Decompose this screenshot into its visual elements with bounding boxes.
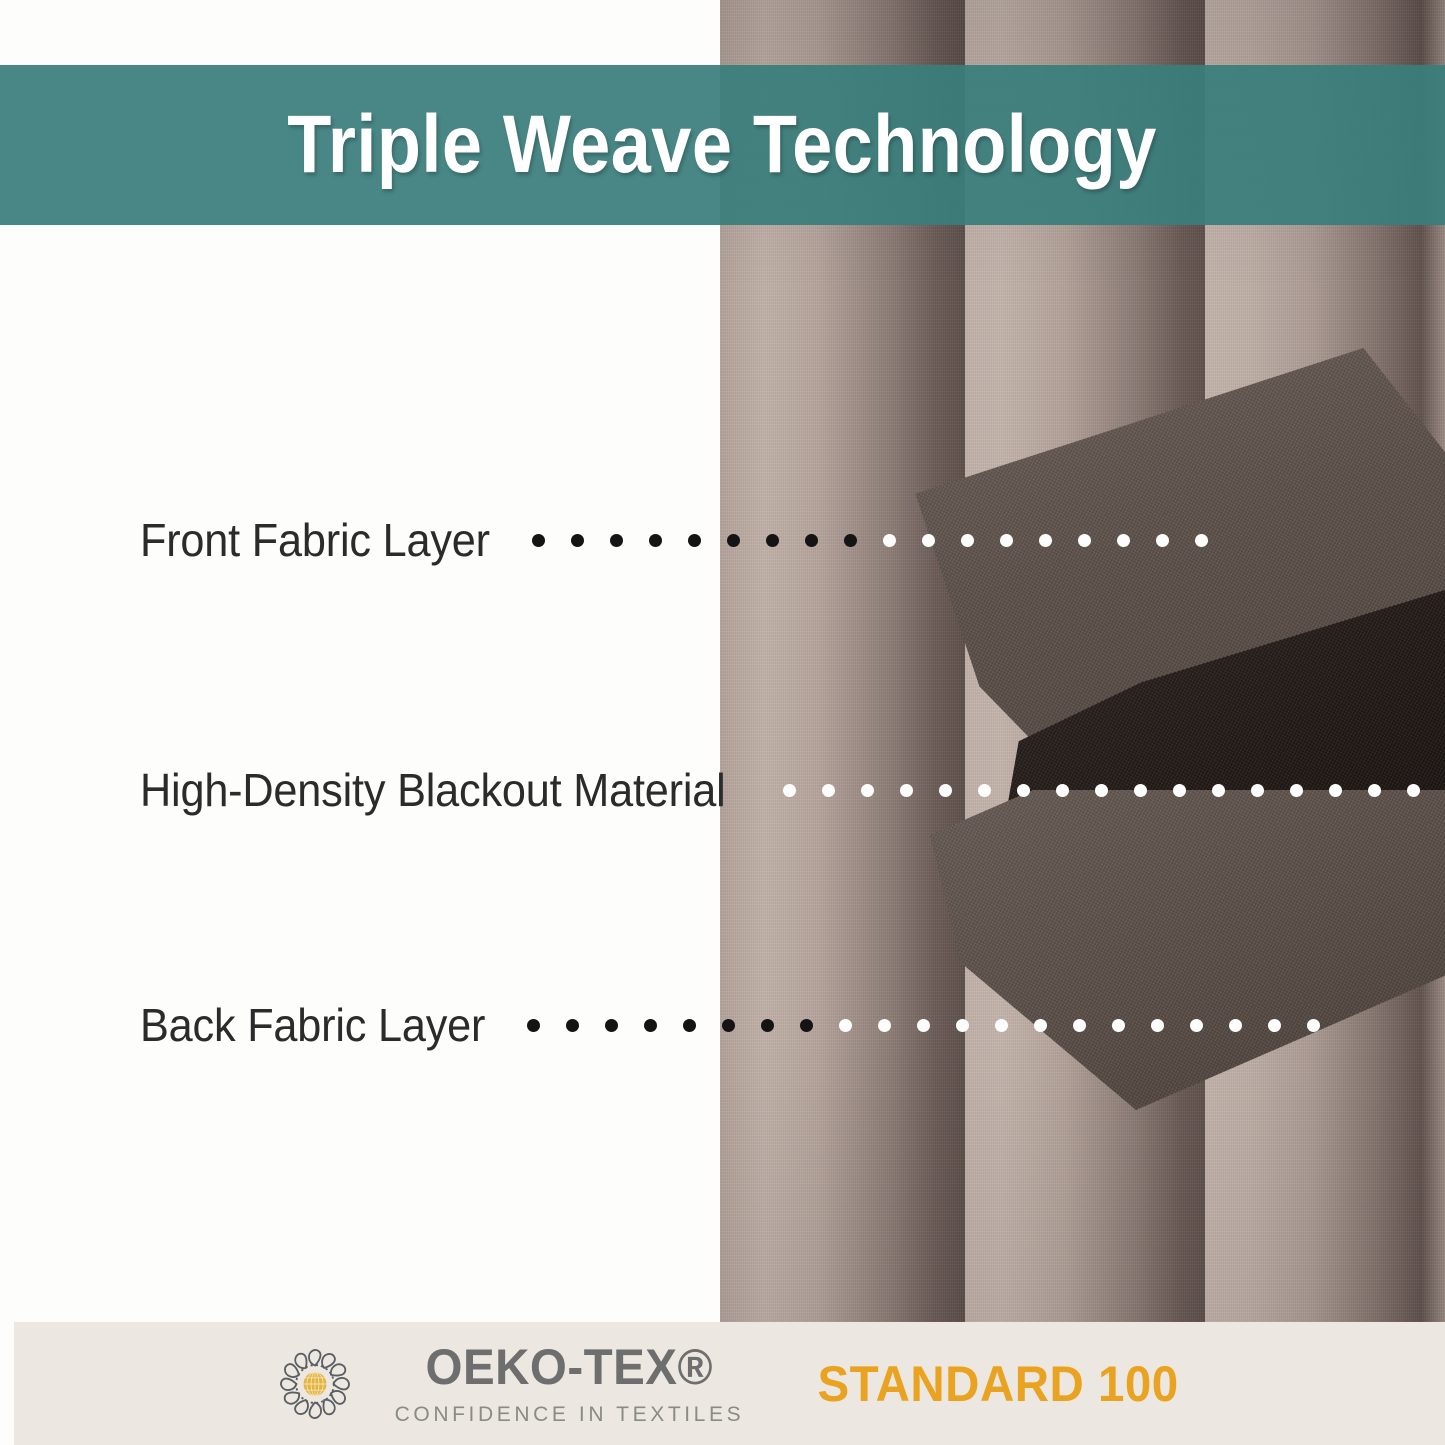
leader-dot [900,784,913,797]
oeko-tex-brand: OEKO-TEX® [426,1342,713,1392]
leader-dot [805,534,818,547]
leader-dot [649,534,662,547]
leader-dot [1073,1019,1086,1032]
product-infographic: Triple Weave Technology Front Fabric Lay… [0,0,1445,1445]
leader-dot [1195,534,1208,547]
oeko-tex-lockup: OEKO-TEX® CONFIDENCE IN TEXTILES [271,1340,745,1428]
leader-dot [917,1019,930,1032]
callout-high-density-blackout-material: High-Density Blackout Material [140,762,1445,818]
leader-dot [1190,1019,1203,1032]
standard-100-label: STANDARD 100 [818,1355,1179,1413]
leader-dot [1112,1019,1125,1032]
leader-dot [1151,1019,1164,1032]
page-title: Triple Weave Technology [288,104,1158,186]
leader-dot [939,784,952,797]
leader-dot [922,534,935,547]
leader-dot [1078,534,1091,547]
callout-back-fabric-layer: Back Fabric Layer [140,997,1346,1053]
leader-dot [839,1019,852,1032]
leader-dot [1017,784,1030,797]
oeko-tex-logo-icon [271,1340,359,1428]
leader-dot [1229,1019,1242,1032]
leader-dot [532,534,545,547]
leader-dot [1134,784,1147,797]
leader-dot [800,1019,813,1032]
leader-dot [1290,784,1303,797]
leader-dot [1056,784,1069,797]
leader-dot [1173,784,1186,797]
leader-dot [766,534,779,547]
callout-label: High-Density Blackout Material [140,763,726,817]
oeko-tex-tagline: CONFIDENCE IN TEXTILES [395,1404,745,1425]
leader-dot [956,1019,969,1032]
callout-front-fabric-layer: Front Fabric Layer [140,512,1234,568]
leader-dot [878,1019,891,1032]
leader-dot [961,534,974,547]
leader-dot [605,1019,618,1032]
leader-dots-back-fabric-layer [527,1015,1346,1035]
leader-dot [727,534,740,547]
leader-dot [1117,534,1130,547]
leader-dot [683,1019,696,1032]
leader-dots-front-fabric-layer [532,530,1234,550]
leader-dot [722,1019,735,1032]
leader-dot [688,534,701,547]
leader-dot [761,1019,774,1032]
header-band: Triple Weave Technology [0,65,1445,225]
leader-dot [1039,534,1052,547]
leader-dot [822,784,835,797]
leader-dot [644,1019,657,1032]
leader-dot [571,534,584,547]
leader-dot [527,1019,540,1032]
leader-dot [978,784,991,797]
leader-dot [1000,534,1013,547]
leader-dot [1368,784,1381,797]
leader-dot [566,1019,579,1032]
leader-dot [1329,784,1342,797]
leader-dot [1407,784,1420,797]
callout-label: Front Fabric Layer [140,513,490,567]
oeko-tex-wordmark: OEKO-TEX® CONFIDENCE IN TEXTILES [395,1342,745,1425]
leader-dot [995,1019,1008,1032]
leader-dot [1307,1019,1320,1032]
leader-dot [844,534,857,547]
leader-dot [1156,534,1169,547]
leader-dot [883,534,896,547]
leader-dot [1034,1019,1047,1032]
leader-dot [1095,784,1108,797]
leader-dot [861,784,874,797]
leader-dots-high-density-blackout-material [783,780,1445,800]
certification-footer: OEKO-TEX® CONFIDENCE IN TEXTILES STANDAR… [14,1322,1445,1445]
leader-dot [610,534,623,547]
leader-dot [783,784,796,797]
callout-label: Back Fabric Layer [140,998,485,1052]
leader-dot [1212,784,1225,797]
leader-dot [1251,784,1264,797]
leader-dot [1268,1019,1281,1032]
